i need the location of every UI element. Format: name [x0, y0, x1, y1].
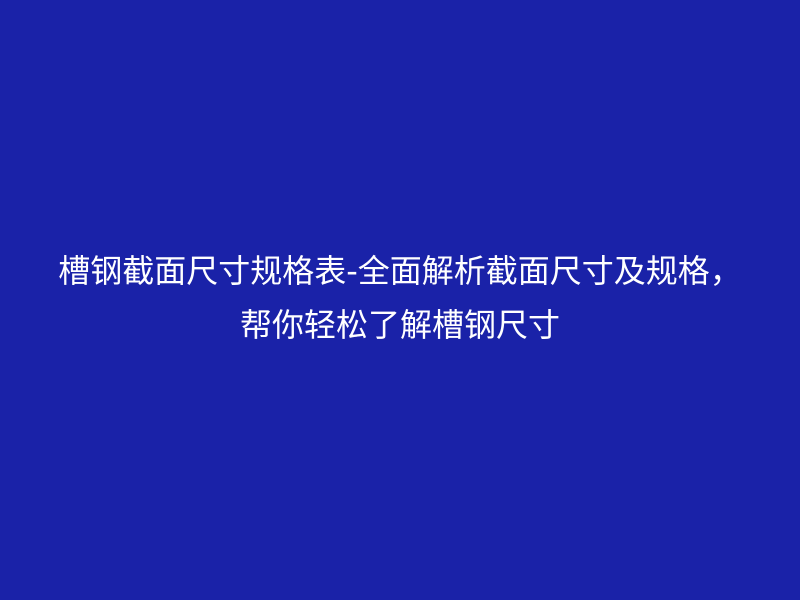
headline-block: 槽钢截面尺寸规格表-全面解析截面尺寸及规格，帮你轻松了解槽钢尺寸	[45, 244, 755, 352]
page-title: 槽钢截面尺寸规格表-全面解析截面尺寸及规格，帮你轻松了解槽钢尺寸	[45, 244, 755, 352]
banner-canvas: 槽钢截面尺寸规格表-全面解析截面尺寸及规格，帮你轻松了解槽钢尺寸	[0, 0, 800, 600]
